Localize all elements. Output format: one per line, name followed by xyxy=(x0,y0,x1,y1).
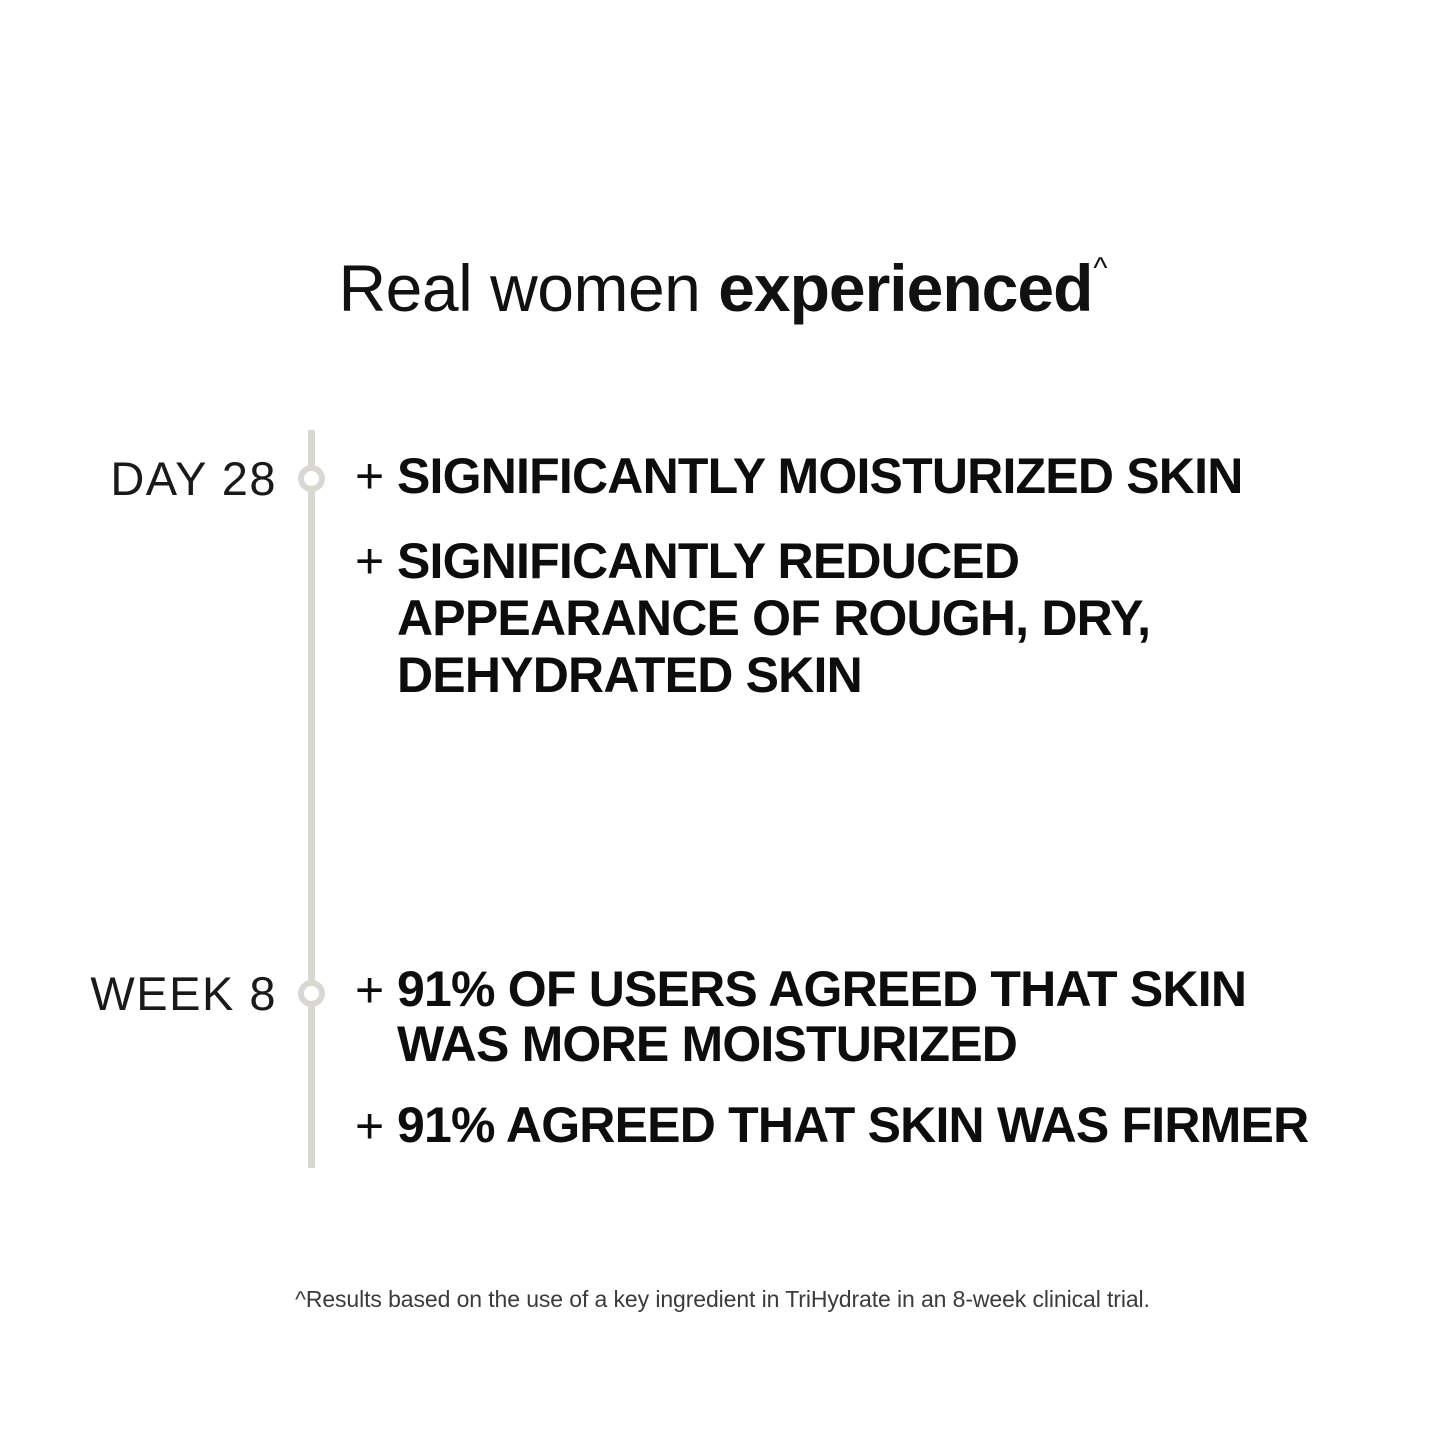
claims-group-day-28: + SIGNIFICANTLY MOISTURIZED SKIN + SIGNI… xyxy=(355,448,1405,704)
timeline-rail xyxy=(308,430,315,1168)
plus-icon: + xyxy=(355,448,397,505)
claim-item: + SIGNIFICANTLY REDUCED APPEARANCE OF RO… xyxy=(355,533,1405,704)
claim-line: WAS MORE MOISTURIZED xyxy=(397,1017,1405,1072)
timeline-stage-label-week-8: WEEK 8 xyxy=(0,967,277,1021)
claim-line: DEHYDRATED SKIN xyxy=(397,647,1405,704)
claim-text: 91% AGREED THAT SKIN WAS FIRMER xyxy=(397,1098,1405,1153)
claim-text: SIGNIFICANTLY REDUCED APPEARANCE OF ROUG… xyxy=(397,533,1405,704)
claim-line: SIGNIFICANTLY REDUCED xyxy=(397,533,1405,590)
plus-icon: + xyxy=(355,533,397,590)
claim-line: APPEARANCE OF ROUGH, DRY, xyxy=(397,590,1405,647)
plus-icon: + xyxy=(355,1098,397,1155)
page-title: Real women experienced^ xyxy=(0,240,1445,327)
title-light-text: Real women xyxy=(339,251,719,325)
claim-line: SIGNIFICANTLY MOISTURIZED SKIN xyxy=(397,448,1405,505)
claim-text: SIGNIFICANTLY MOISTURIZED SKIN xyxy=(397,448,1405,505)
title-footnote-marker: ^ xyxy=(1093,252,1107,285)
timeline-stage-label-day-28: DAY 28 xyxy=(0,452,277,506)
claim-line: 91% OF USERS AGREED THAT SKIN xyxy=(397,962,1405,1017)
claim-line: 91% AGREED THAT SKIN WAS FIRMER xyxy=(397,1098,1405,1153)
claim-item: + 91% AGREED THAT SKIN WAS FIRMER xyxy=(355,1098,1405,1155)
footnote-text: ^Results based on the use of a key ingre… xyxy=(0,1284,1445,1314)
plus-icon: + xyxy=(355,962,397,1019)
claim-item: + SIGNIFICANTLY MOISTURIZED SKIN xyxy=(355,448,1405,505)
marketing-claims-panel: Real women experienced^ DAY 28 WEEK 8 + … xyxy=(0,0,1445,1445)
title-bold-text: experienced xyxy=(718,251,1092,325)
claims-group-week-8: + 91% OF USERS AGREED THAT SKIN WAS MORE… xyxy=(355,962,1405,1155)
ring-marker-icon xyxy=(298,465,325,492)
claim-text: 91% OF USERS AGREED THAT SKIN WAS MORE M… xyxy=(397,962,1405,1072)
claim-item: + 91% OF USERS AGREED THAT SKIN WAS MORE… xyxy=(355,962,1405,1072)
ring-marker-icon xyxy=(298,980,325,1007)
